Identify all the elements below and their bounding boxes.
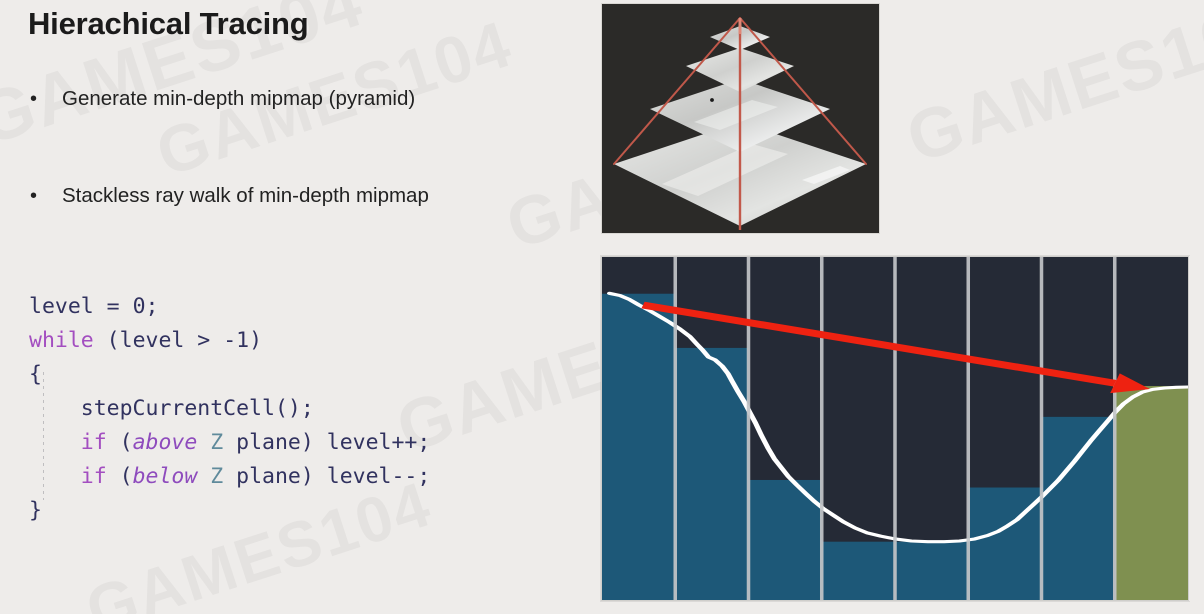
code-token: Z <box>210 430 223 455</box>
code-token: { <box>29 362 42 387</box>
pyramid-svg <box>602 4 879 233</box>
hiz-cell-mindepth-1 <box>675 348 748 600</box>
code-line: stepCurrentCell(); <box>29 392 430 426</box>
hiz-cell-empty-2 <box>749 257 822 480</box>
pyramid-figure <box>601 3 880 234</box>
hiz-cell-empty-3 <box>822 257 895 542</box>
hiz-cell-mindepth-7 <box>1115 386 1188 600</box>
hiz-cell-empty-7 <box>1115 257 1188 386</box>
code-token: level <box>29 294 94 319</box>
code-token: ( <box>94 328 120 353</box>
code-line: if (below Z plane) level--; <box>29 460 430 494</box>
code-token: level <box>120 328 185 353</box>
bullet-marker: • <box>30 89 62 109</box>
hiz-ray-walk-figure <box>601 256 1189 601</box>
code-token: 0; <box>133 294 159 319</box>
hiz-cell-mindepth-3 <box>822 542 895 600</box>
hiz-cell-mindepth-6 <box>1042 417 1115 600</box>
code-token: } <box>29 498 42 523</box>
hiz-cell-mindepth-4 <box>895 542 968 600</box>
code-token: stepCurrentCell(); <box>29 396 314 421</box>
bullet-item-1: • Stackless ray walk of min-depth mipmap <box>30 184 429 208</box>
hiz-cell-empty-6 <box>1042 257 1115 417</box>
code-token <box>197 430 210 455</box>
code-token: while <box>29 328 94 353</box>
hiz-cell-empty-0 <box>602 257 675 294</box>
code-line: } <box>29 494 430 528</box>
watermark: GAMES104 <box>897 0 1204 178</box>
hiz-svg <box>602 257 1188 600</box>
code-line: while (level > -1) <box>29 324 430 358</box>
bullet-item-0: • Generate min-depth mipmap (pyramid) <box>30 87 415 111</box>
code-token: below <box>133 464 198 489</box>
code-line: level = 0; <box>29 290 430 324</box>
code-line: if (above Z plane) level++; <box>29 426 430 460</box>
page-title: Hierachical Tracing <box>28 6 309 42</box>
code-block: level = 0;while (level > -1){ stepCurren… <box>29 290 430 528</box>
code-token: if <box>81 464 107 489</box>
code-token: -1) <box>223 328 262 353</box>
code-token <box>197 464 210 489</box>
code-token: ( <box>107 430 133 455</box>
code-token: plane) level++; <box>223 430 430 455</box>
code-token <box>29 430 81 455</box>
hiz-cell-mindepth-0 <box>602 294 675 600</box>
code-token: ( <box>107 464 133 489</box>
code-token <box>29 464 81 489</box>
code-token: above <box>133 430 198 455</box>
bullet-marker: • <box>30 186 62 206</box>
bullet-text: Generate min-depth mipmap (pyramid) <box>62 87 415 111</box>
code-token: if <box>81 430 107 455</box>
hiz-cell-empty-4 <box>895 257 968 542</box>
code-token: = <box>94 294 133 319</box>
code-token: Z <box>210 464 223 489</box>
bullet-text: Stackless ray walk of min-depth mipmap <box>62 184 429 208</box>
slide-canvas: GAMES104 GAMES104 GAMES104 GAMES104 GAME… <box>0 0 1204 614</box>
code-token: > <box>184 328 223 353</box>
code-token: plane) level--; <box>223 464 430 489</box>
panel-gutter <box>1189 256 1204 601</box>
pyramid-marker-dot <box>710 98 714 102</box>
code-line: { <box>29 358 430 392</box>
